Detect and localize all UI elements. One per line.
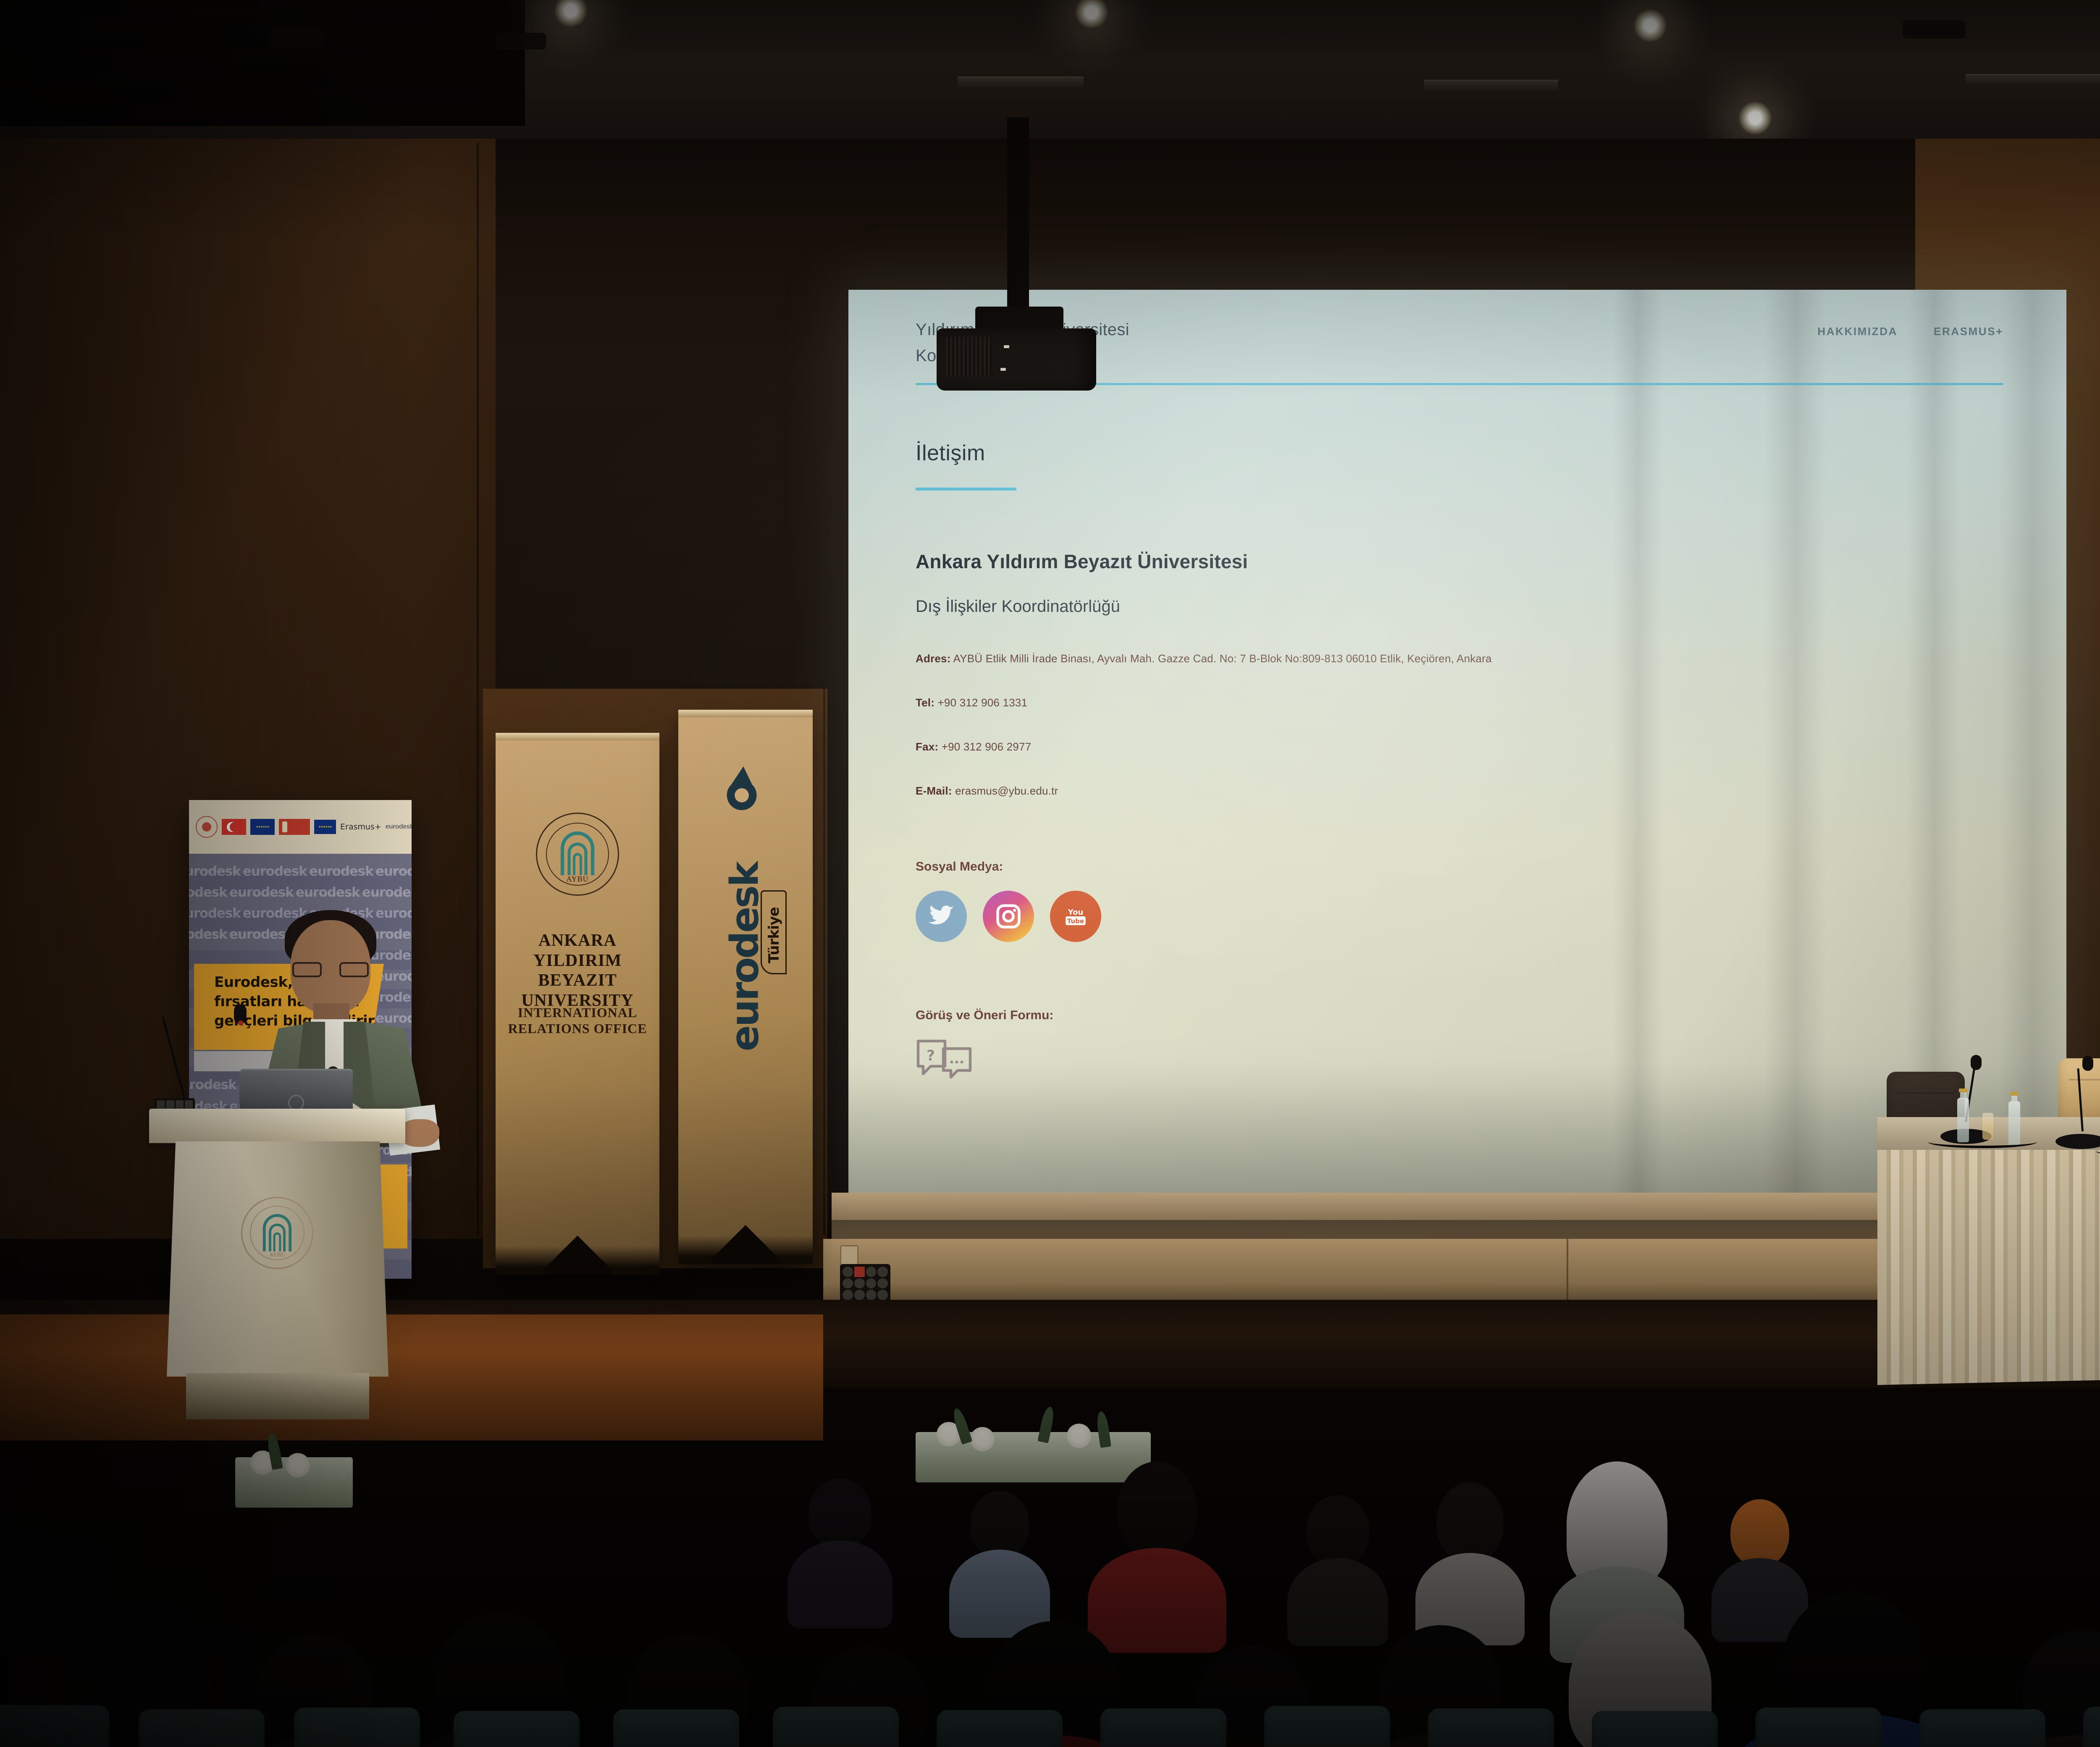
- ceiling-shadow-left: [0, 0, 525, 126]
- audience-member: [798, 1478, 882, 1604]
- auditorium-seat[interactable]: [0, 1705, 109, 1747]
- contact-label-address: Adres:: [916, 652, 951, 665]
- banner-international-relations-office: AYBU ANKARA YILDIRIM BEYAZIT · UNIVERSIT…: [496, 733, 659, 1275]
- projection-screen: Yıldırım Beyazıt Üniversitesi Koordinatö…: [848, 290, 2066, 1197]
- erasmus-eu-flag-icon: [314, 820, 336, 834]
- eurodesk-tile-word: eurodesk: [189, 927, 227, 942]
- audience-member: [958, 1491, 1042, 1617]
- projector-vent: [946, 337, 992, 377]
- auditorium-seat[interactable]: [1919, 1709, 2045, 1747]
- auditorium-seat[interactable]: [613, 1709, 739, 1747]
- projection-screen-surface: Yıldırım Beyazıt Üniversitesi Koordinatö…: [848, 290, 2066, 1197]
- contact-label-fax: Fax:: [916, 740, 938, 753]
- aybu-seal-icon: AYBU ANKARA YILDIRIM BEYAZIT · UNIVERSIT…: [536, 813, 619, 896]
- auditorium-seat[interactable]: [1428, 1708, 1554, 1747]
- svg-text:Tube: Tube: [1067, 918, 1084, 925]
- auditorium-seat[interactable]: [937, 1710, 1063, 1747]
- audience-member: [1428, 1482, 1512, 1617]
- eurodesk-tile-word: eurodesk: [189, 1077, 236, 1092]
- eurodesk-tile-word: eurodesk: [229, 885, 293, 900]
- ceiling-air-vent: [958, 76, 1084, 87]
- audience-head: [1306, 1495, 1369, 1566]
- ceiling-air-vent: [1966, 74, 2100, 85]
- organization-unit: Dış İlişkiler Koordinatörlüğü: [916, 597, 2003, 616]
- banner-title: ANKARA YILDIRIM BEYAZIT UNIVERSITY: [496, 930, 659, 1010]
- auditorium-seat[interactable]: [773, 1707, 899, 1747]
- audience-head: [1730, 1499, 1789, 1566]
- auditorium-seat[interactable]: [1264, 1706, 1390, 1747]
- table-microphone-head: [1971, 1055, 1982, 1070]
- twitter-icon[interactable]: [916, 891, 967, 942]
- social-media-row: You Tube: [916, 891, 2003, 942]
- contact-row-tel: Tel: +90 312 906 1331: [916, 696, 2003, 709]
- auditorium-scene: Yıldırım Beyazıt Üniversitesi Koordinatö…: [0, 0, 2100, 1747]
- banner-top-rail: [678, 710, 813, 717]
- contact-label-email: E-Mail:: [916, 784, 952, 797]
- table-microphone-head: [2082, 1056, 2093, 1071]
- contact-row-fax: Fax: +90 312 906 2977: [916, 740, 2003, 753]
- glasses-lens-right: [339, 962, 369, 977]
- eurodesk-tile-word: eurodesk: [296, 885, 360, 900]
- eu-flag-icon: [250, 819, 275, 835]
- eurodesk-tile-word: eurodesk: [243, 864, 307, 879]
- instagram-icon[interactable]: [983, 891, 1034, 942]
- turkey-flag-icon: [222, 819, 246, 835]
- audience-member: [1562, 1461, 1672, 1621]
- flower: [1067, 1424, 1091, 1448]
- keypad-button[interactable]: [854, 1267, 865, 1277]
- audience-member: [1109, 1461, 1205, 1613]
- auditorium-seat[interactable]: [139, 1709, 265, 1747]
- auditorium-seat[interactable]: [1592, 1711, 1718, 1747]
- audience-torso: [787, 1540, 892, 1629]
- nav-link-hakkimizda[interactable]: HAKKIMIZDA: [1817, 325, 1898, 338]
- eurodesk-pin-icon: [723, 764, 764, 813]
- projector-body: [937, 328, 1096, 391]
- eurodesk-tile-word: eurodesk: [375, 864, 412, 879]
- keypad-button[interactable]: [843, 1267, 853, 1277]
- site-navigation[interactable]: HAKKIMIZDA ERASMUS+: [1817, 317, 2003, 338]
- podium-top-surface: [149, 1109, 405, 1143]
- contact-value-email: erasmus@ybu.edu.tr: [955, 784, 1058, 797]
- cable: [1928, 1136, 2037, 1148]
- eurodesk-tile-word: eurodesk: [189, 906, 240, 921]
- seal-abbreviation: AYBU: [566, 875, 588, 884]
- auditorium-seat[interactable]: [294, 1708, 420, 1747]
- wall-seam: [477, 143, 479, 1235]
- ceiling-speaker-box: [269, 29, 323, 48]
- turkish-national-agency-icon: [279, 819, 310, 835]
- banner-top-rail: [496, 733, 659, 740]
- projector-indicator-led: [1004, 345, 1009, 348]
- auditorium-seat[interactable]: [2083, 1707, 2100, 1747]
- nav-link-erasmus[interactable]: ERASMUS+: [1934, 325, 2003, 338]
- audience-head: [808, 1478, 871, 1549]
- audience-head: [970, 1491, 1029, 1558]
- flower: [286, 1453, 310, 1477]
- eurodesk-logo-strip: Erasmus+ eurodesk: [189, 800, 412, 854]
- flower: [970, 1427, 995, 1451]
- audience: [0, 1281, 2100, 1747]
- podium-aybu-seal-icon: AYBÜ ANKARA YILDIRIM BEYAZIT · ÜNİVERSİT…: [241, 1197, 313, 1269]
- projector-mount-pole: [1007, 118, 1029, 315]
- turkiye-badge-label: Türkiye: [766, 895, 782, 975]
- youtube-icon[interactable]: You Tube: [1050, 891, 1101, 942]
- ceiling-air-vent: [1424, 80, 1558, 91]
- svg-text:?: ?: [927, 1047, 935, 1064]
- ceiling-projector: [937, 294, 1096, 391]
- wall-seam: [823, 689, 825, 1235]
- contact-row-email: E-Mail: erasmus@ybu.edu.tr: [916, 784, 2003, 797]
- ceiling-downlight: [1739, 102, 1772, 134]
- audience-head: [1436, 1482, 1504, 1562]
- ceiling-downlight: [1634, 9, 1667, 42]
- audience-head: [1117, 1461, 1197, 1558]
- eurodesk-wordmark-small: eurodesk: [386, 823, 412, 831]
- projected-website: Yıldırım Beyazıt Üniversitesi Koordinatö…: [848, 290, 2066, 1197]
- contact-row-address: Adres: AYBÜ Etlik Milli İrade Binası, Ay…: [916, 652, 2003, 665]
- turkiye-badge: Türkiye: [761, 890, 787, 974]
- page-title: İletişim: [916, 441, 2003, 466]
- auditorium-seat[interactable]: [1100, 1708, 1226, 1747]
- eurodesk-tile-word: eurodesk: [362, 885, 412, 900]
- svg-text:You: You: [1068, 908, 1084, 917]
- ceiling-speaker-box: [1903, 20, 1966, 39]
- seal-arch-mark: [557, 832, 598, 877]
- keypad-button[interactable]: [866, 1267, 877, 1277]
- audience-member: [1298, 1495, 1378, 1621]
- social-media-label: Sosyal Medya:: [916, 860, 2003, 874]
- presenter-glasses: [292, 962, 369, 977]
- ceiling-speaker-box: [496, 33, 546, 50]
- question-speech-bubble-icon[interactable]: ?: [916, 1037, 974, 1083]
- banner-subtitle: INTERNATIONAL RELATIONS OFFICE: [496, 1005, 659, 1037]
- glasses-lens-left: [292, 962, 322, 977]
- keypad-button[interactable]: [877, 1267, 888, 1277]
- seal-abbreviation: AYBÜ: [269, 1252, 285, 1259]
- auditorium-seat[interactable]: [454, 1711, 580, 1747]
- projector-indicator-led: [1000, 368, 1006, 371]
- erasmus-plus-wordmark: Erasmus+: [340, 822, 381, 832]
- eurodesk-tile-word: eurodesk: [189, 864, 240, 879]
- auditorium-seat[interactable]: [1756, 1708, 1882, 1747]
- title-underline: [916, 488, 1016, 491]
- organization-name: Ankara Yıldırım Beyazıt Üniversitesi: [916, 550, 2003, 573]
- seal-icon: [196, 816, 218, 838]
- contact-value-tel: +90 312 906 1331: [938, 696, 1028, 709]
- eurodesk-tile-word: eurodesk: [189, 885, 227, 900]
- contact-value-address: AYBÜ Etlik Milli İrade Binası, Ayvalı Ma…: [953, 652, 1492, 665]
- feedback-form-label: Görüş ve Öneri Formu:: [916, 1008, 2003, 1023]
- banner-eurodesk-turkiye: eurodesk Türkiye: [678, 710, 813, 1264]
- podium-microphone-indicator: [238, 1020, 243, 1026]
- contact-value-fax: +90 312 906 2977: [942, 740, 1032, 753]
- contact-label-tel: Tel:: [916, 696, 934, 709]
- eurodesk-tile-word: eurodesk: [309, 864, 373, 879]
